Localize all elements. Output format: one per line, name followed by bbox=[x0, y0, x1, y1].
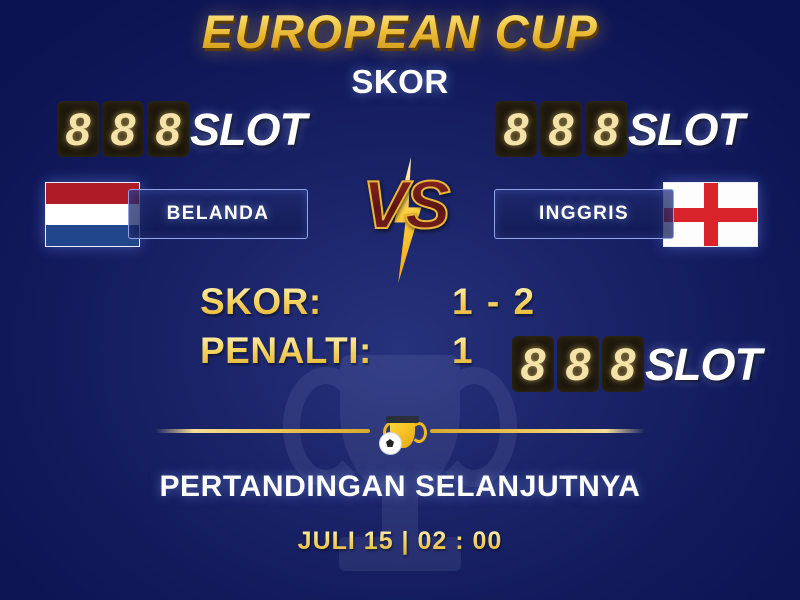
score-label: SKOR: bbox=[200, 281, 452, 323]
brand-wordmark: SLOT bbox=[628, 107, 744, 152]
versus-badge: VS bbox=[345, 165, 465, 275]
penalty-value: 1 bbox=[452, 330, 475, 372]
brand-digit-tile: 8 bbox=[540, 101, 582, 157]
brand-digit: 8 bbox=[503, 107, 528, 152]
brand-digit-tiles: 8 8 8 bbox=[57, 101, 189, 157]
brand-wordmark: SLOT bbox=[645, 342, 761, 387]
brand-digit: 8 bbox=[520, 342, 545, 387]
divider-line-right bbox=[430, 429, 645, 433]
netherlands-flag-icon bbox=[45, 182, 140, 247]
trophy-and-football-icon bbox=[376, 414, 426, 460]
brand-digit: 8 bbox=[565, 342, 590, 387]
brand-digit-tile: 8 bbox=[102, 101, 144, 157]
brand-digit: 8 bbox=[548, 107, 573, 152]
penalty-row: PENALTI: 1 bbox=[200, 330, 475, 372]
brand-digit-tile: 8 bbox=[585, 101, 627, 157]
team-right-name: INGGRIS bbox=[539, 203, 629, 225]
brand-digit: 8 bbox=[610, 342, 635, 387]
page-subtitle: SKOR bbox=[0, 63, 800, 101]
penalty-label: PENALTI: bbox=[200, 330, 452, 372]
brand-digit: 8 bbox=[110, 107, 135, 152]
brand-digit-tile: 8 bbox=[512, 336, 554, 392]
team-left-name: BELANDA bbox=[167, 203, 270, 225]
next-match-time: JULI 15 | 02 : 00 bbox=[0, 527, 800, 556]
brand-logo-bottom: 8 8 8 SLOT bbox=[512, 336, 761, 392]
score-row: SKOR: 1 - 2 bbox=[200, 281, 536, 323]
brand-logo-left: 8 8 8 SLOT bbox=[57, 101, 306, 157]
team-right-name-box: INGGRIS bbox=[494, 189, 674, 239]
brand-digit-tiles: 8 8 8 bbox=[512, 336, 644, 392]
brand-digit: 8 bbox=[65, 107, 90, 152]
brand-digit-tiles: 8 8 8 bbox=[495, 101, 627, 157]
brand-digit-tile: 8 bbox=[57, 101, 99, 157]
brand-digit-tile: 8 bbox=[495, 101, 537, 157]
brand-digit-tile: 8 bbox=[602, 336, 644, 392]
divider-line-left bbox=[155, 429, 370, 433]
section-divider bbox=[0, 420, 800, 456]
football-icon bbox=[379, 432, 402, 455]
brand-digit: 8 bbox=[155, 107, 180, 152]
team-left-name-box: BELANDA bbox=[128, 189, 308, 239]
page-title: EUROPEAN CUP bbox=[0, 4, 800, 59]
brand-wordmark: SLOT bbox=[190, 107, 306, 152]
score-value: 1 - 2 bbox=[452, 281, 536, 323]
brand-digit-tile: 8 bbox=[557, 336, 599, 392]
versus-label: VS bbox=[345, 171, 465, 239]
brand-logo-right: 8 8 8 SLOT bbox=[495, 101, 744, 157]
next-match-label: PERTANDINGAN SELANJUTNYA bbox=[0, 470, 800, 504]
brand-digit: 8 bbox=[593, 107, 618, 152]
england-flag-icon bbox=[663, 182, 758, 247]
brand-digit-tile: 8 bbox=[147, 101, 189, 157]
scoreboard-graphic: EUROPEAN CUP SKOR 8 8 8 SLOT 8 8 8 SLOT … bbox=[0, 0, 800, 600]
